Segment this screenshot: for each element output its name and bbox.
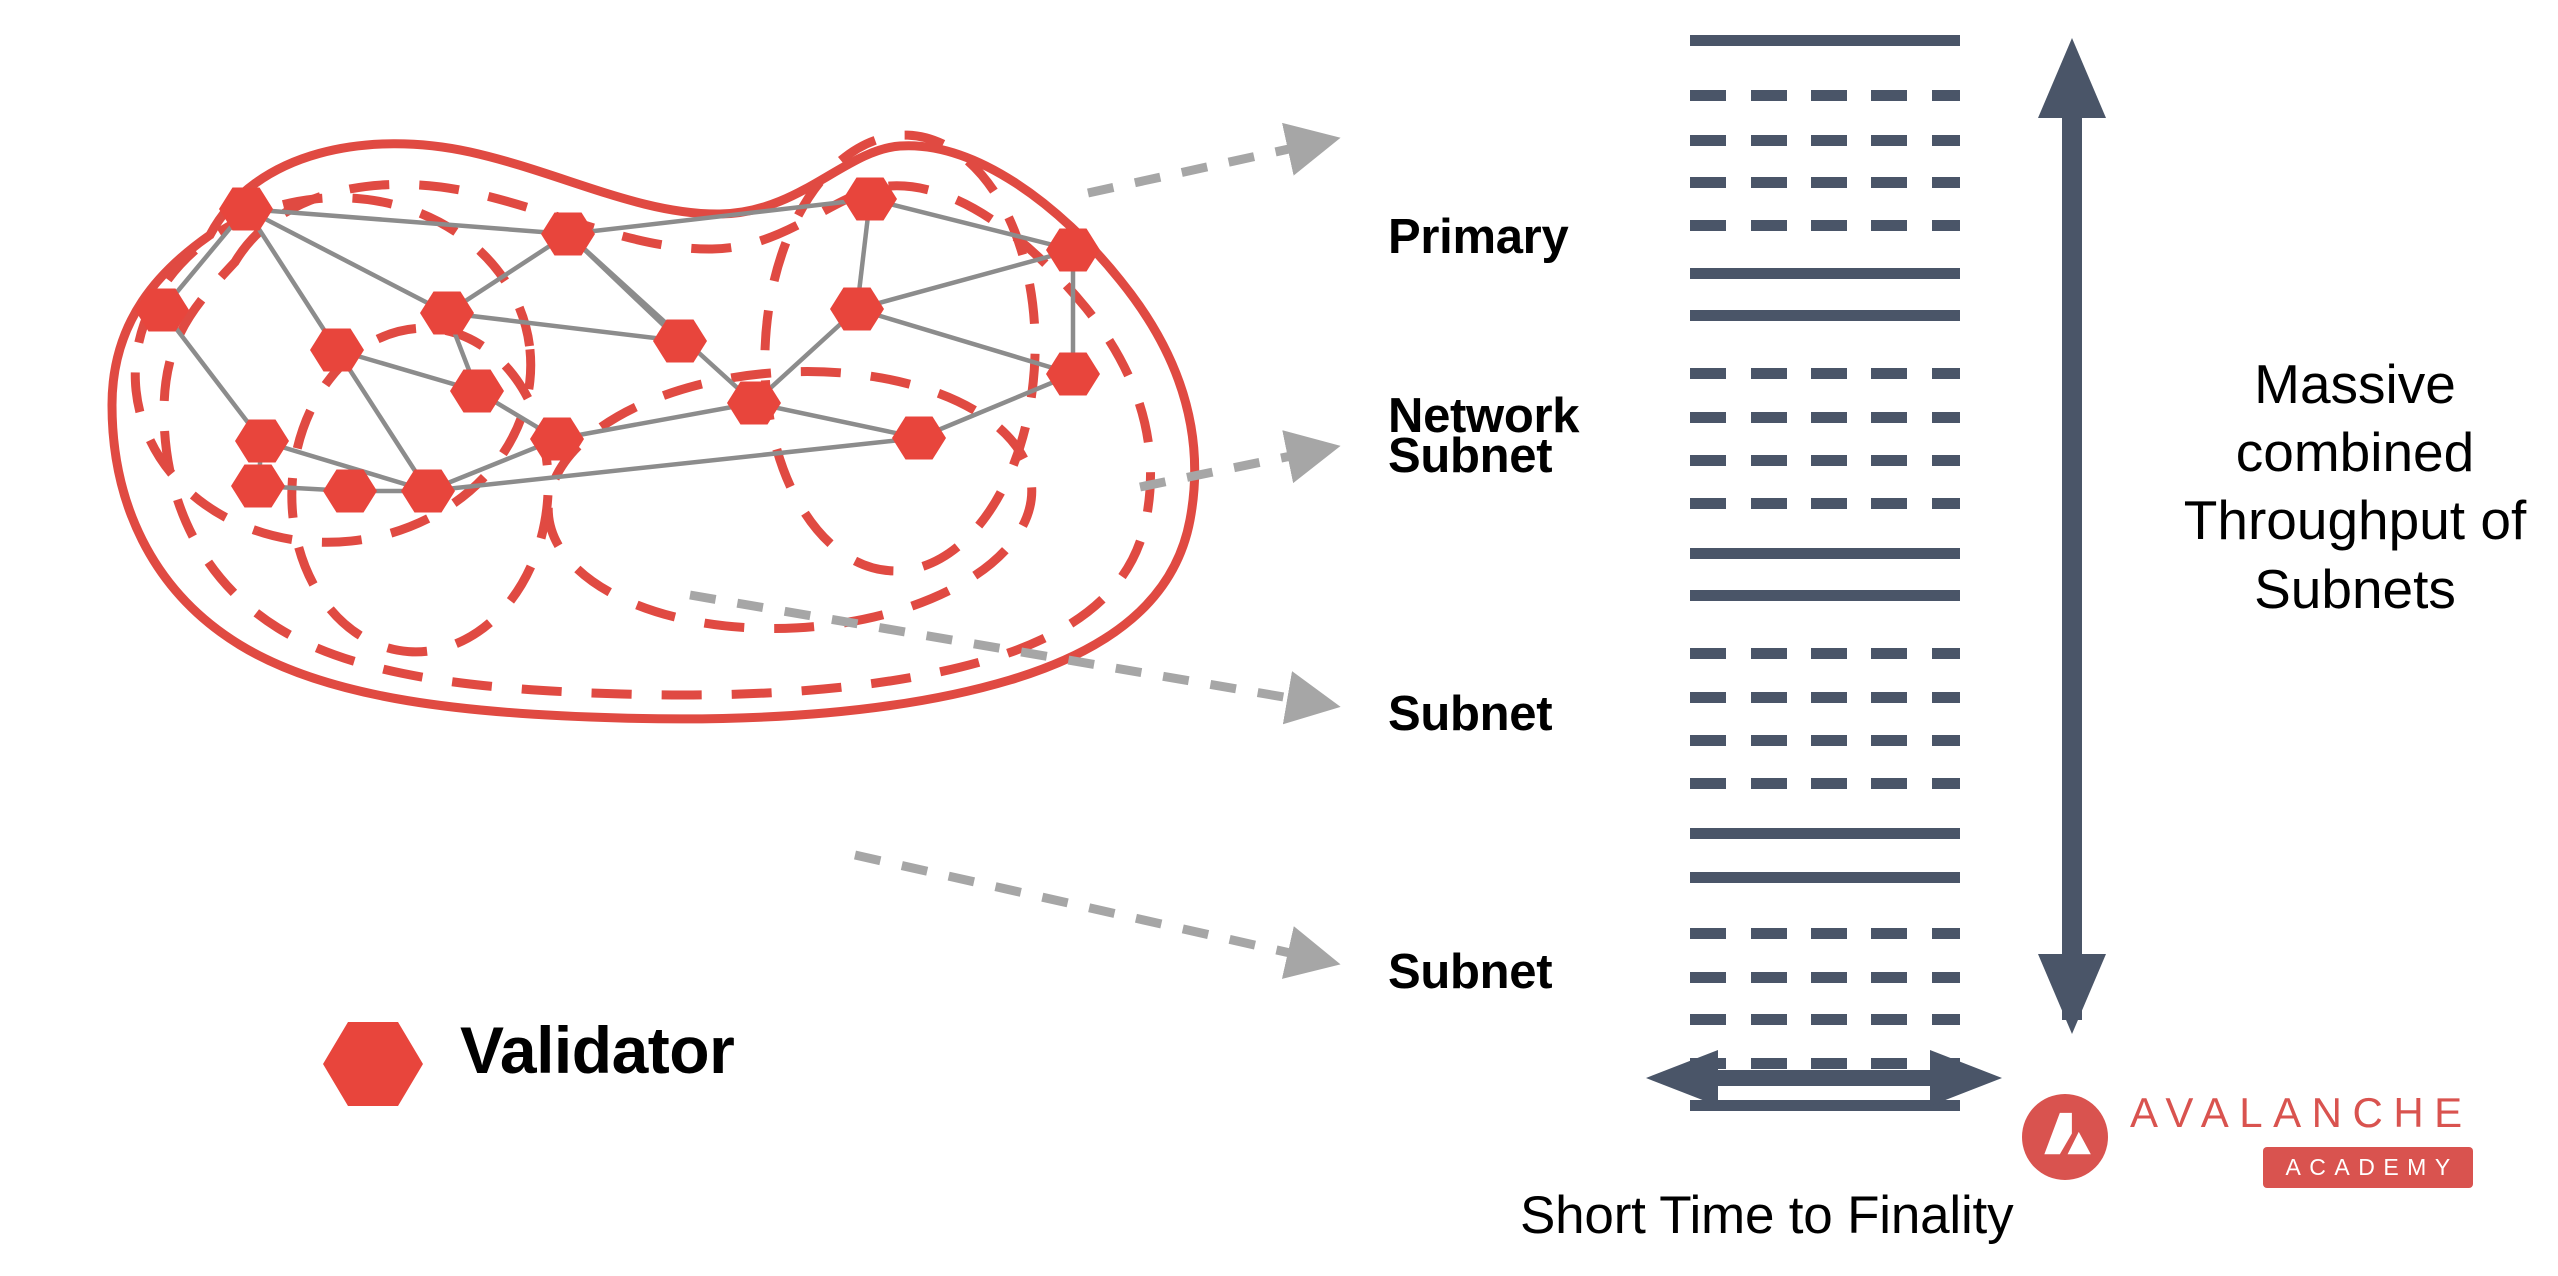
throughput-rows — [1690, 35, 1960, 1111]
label-primary-network-line1: Primary — [1388, 208, 1579, 268]
block-segment — [1690, 692, 1726, 703]
validator-node — [892, 417, 946, 460]
arrow-head-down — [2038, 954, 2106, 1034]
label-subnet-1: Subnet — [1388, 428, 1552, 484]
validator-edge — [754, 403, 919, 438]
pointer-arrows — [690, 140, 1330, 962]
validator-node — [310, 329, 364, 372]
validator-node — [323, 470, 377, 513]
block-segment — [1932, 928, 1960, 939]
pointer-primary-network — [1088, 140, 1330, 193]
block-segment — [1871, 648, 1907, 659]
block-segment — [1751, 455, 1787, 466]
block-segment — [1690, 648, 1726, 659]
block-segment — [1690, 735, 1726, 746]
validator-edge — [246, 209, 447, 313]
label-subnet-3: Subnet — [1388, 944, 1552, 1000]
pointer-subnet-1 — [1140, 448, 1330, 487]
block-segment — [1932, 177, 1960, 188]
block-segment — [1871, 220, 1907, 231]
label-validator-legend: Validator — [460, 1012, 734, 1088]
block-segment — [1811, 972, 1847, 983]
block-segment — [1811, 735, 1847, 746]
block-segment — [1690, 778, 1726, 789]
block-segment — [1690, 412, 1726, 423]
validator-edge — [857, 250, 1073, 309]
chain-boundary-line — [1690, 590, 1960, 601]
block-segment — [1751, 412, 1787, 423]
block-segment — [1751, 1058, 1787, 1069]
logo-wordmark: AVALANCHE — [2130, 1092, 2473, 1134]
subnet-region-large — [164, 184, 1151, 695]
chain-boundary-line — [1690, 310, 1960, 321]
logo-academy-badge: ACADEMY — [2263, 1147, 2472, 1188]
block-segment — [1751, 135, 1787, 146]
block-segment — [1751, 735, 1787, 746]
block-segment — [1690, 90, 1726, 101]
arrow-shaft-vertical — [2062, 112, 2082, 1020]
block-segment — [1932, 778, 1960, 789]
block-segment — [1811, 1014, 1847, 1025]
label-primary-network: Primary Network — [1388, 88, 1579, 566]
block-segment — [1871, 1014, 1907, 1025]
block-segment — [1690, 972, 1726, 983]
block-segment — [1932, 90, 1960, 101]
block-segment — [1811, 1058, 1847, 1069]
avalanche-academy-logo: AVALANCHE ACADEMY — [2022, 1092, 2473, 1188]
block-segment — [1871, 177, 1907, 188]
block-segment — [1811, 135, 1847, 146]
block-segment — [1811, 368, 1847, 379]
subnet-large-outline — [164, 184, 1151, 695]
block-segment — [1871, 972, 1907, 983]
validator-edge — [568, 234, 754, 403]
subnet-d-outline — [542, 360, 1039, 641]
validator-node — [450, 370, 504, 413]
block-segment — [1811, 412, 1847, 423]
label-subnet-2: Subnet — [1388, 686, 1552, 742]
block-segment — [1690, 498, 1726, 509]
validator-node — [1046, 353, 1100, 396]
validator-node — [1046, 229, 1100, 272]
validator-edge — [857, 309, 1073, 374]
block-segment — [1751, 1014, 1787, 1025]
block-segment — [1811, 498, 1847, 509]
block-segment — [1690, 220, 1726, 231]
block-segment — [1811, 90, 1847, 101]
block-segment — [1932, 135, 1960, 146]
arrow-head-right — [1930, 1050, 2002, 1106]
block-segment — [1811, 778, 1847, 789]
label-finality: Short Time to Finality — [1520, 1185, 2013, 1246]
block-segment — [1871, 1058, 1907, 1069]
block-segment — [1871, 928, 1907, 939]
block-segment — [1811, 177, 1847, 188]
validator-hexagon-icon — [323, 1022, 423, 1106]
block-segment — [1932, 692, 1960, 703]
arrow-head-up — [2038, 38, 2106, 118]
block-segment — [1932, 455, 1960, 466]
block-segment — [1871, 778, 1907, 789]
block-segment — [1690, 928, 1726, 939]
block-segment — [1690, 1014, 1726, 1025]
validator-node — [231, 465, 285, 508]
block-segment — [1932, 498, 1960, 509]
block-segment — [1751, 972, 1787, 983]
block-segment — [1811, 928, 1847, 939]
block-segment — [1811, 455, 1847, 466]
diagram-canvas: Primary Network Subnet Subnet Subnet Val… — [0, 0, 2558, 1276]
block-segment — [1690, 455, 1726, 466]
block-segment — [1871, 412, 1907, 423]
subnet-region-d — [542, 360, 1039, 641]
validator-legend-swatch — [323, 1022, 423, 1106]
logo-text-column: AVALANCHE ACADEMY — [2130, 1092, 2473, 1188]
chain-boundary-line — [1690, 828, 1960, 839]
chain-boundary-line — [1690, 268, 1960, 279]
block-segment — [1751, 177, 1787, 188]
block-segment — [1751, 928, 1787, 939]
block-segment — [1932, 735, 1960, 746]
validator-edge — [428, 438, 919, 491]
block-segment — [1871, 735, 1907, 746]
arrow-shaft-horizontal — [1712, 1070, 1964, 1086]
block-segment — [1932, 368, 1960, 379]
block-segment — [1932, 648, 1960, 659]
arrow-head-left — [1646, 1050, 1718, 1106]
block-segment — [1871, 90, 1907, 101]
block-segment — [1751, 692, 1787, 703]
block-segment — [1690, 368, 1726, 379]
block-segment — [1811, 648, 1847, 659]
block-segment — [1751, 498, 1787, 509]
block-segment — [1871, 368, 1907, 379]
block-segment — [1932, 1014, 1960, 1025]
validator-edge — [447, 313, 680, 341]
validator-node — [235, 420, 289, 463]
block-segment — [1751, 90, 1787, 101]
block-segment — [1690, 177, 1726, 188]
throughput-axis-arrow — [2038, 38, 2106, 1034]
avalanche-subnet-diagram — [0, 0, 2558, 1276]
block-segment — [1690, 135, 1726, 146]
block-segment — [1811, 220, 1847, 231]
validator-edge — [557, 403, 754, 439]
block-segment — [1751, 778, 1787, 789]
avalanche-mountain-icon — [2022, 1094, 2108, 1180]
validator-edge — [246, 209, 568, 234]
block-segment — [1932, 412, 1960, 423]
validator-edge — [162, 310, 262, 441]
validator-node — [420, 292, 474, 335]
block-segment — [1871, 498, 1907, 509]
chain-boundary-line — [1690, 1100, 1960, 1111]
block-segment — [1871, 692, 1907, 703]
block-segment — [1871, 455, 1907, 466]
validator-edge — [919, 374, 1073, 438]
block-segment — [1932, 220, 1960, 231]
label-throughput: Massive combined Throughput of Subnets — [2155, 350, 2555, 623]
chain-boundary-line — [1690, 35, 1960, 46]
pointer-subnet-3 — [855, 855, 1330, 962]
block-segment — [1811, 692, 1847, 703]
block-segment — [1751, 220, 1787, 231]
block-segment — [1751, 368, 1787, 379]
chain-boundary-line — [1690, 872, 1960, 883]
validator-node — [401, 470, 455, 513]
block-segment — [1932, 972, 1960, 983]
validator-edge — [568, 199, 870, 234]
block-segment — [1751, 648, 1787, 659]
block-segment — [1871, 135, 1907, 146]
chain-boundary-line — [1690, 548, 1960, 559]
